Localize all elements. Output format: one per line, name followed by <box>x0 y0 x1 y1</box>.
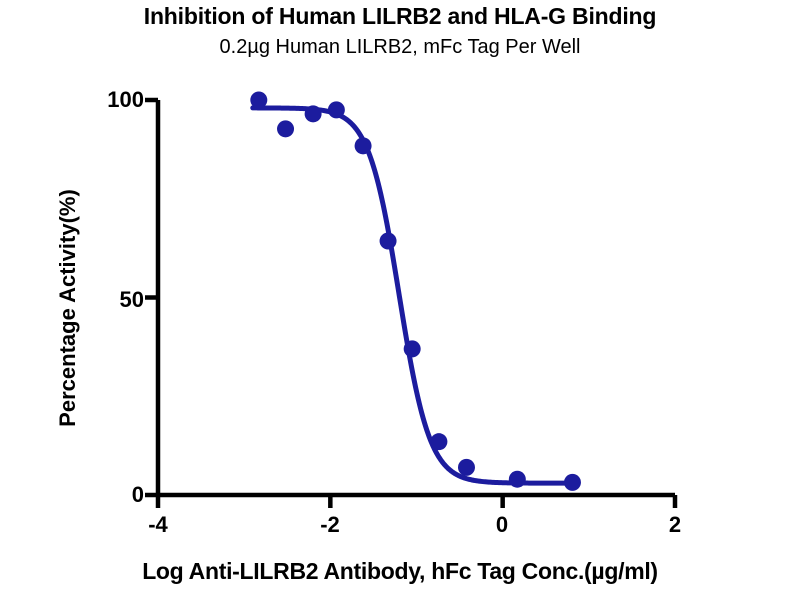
data-points <box>250 92 581 491</box>
fit-curve <box>253 108 576 483</box>
data-point <box>250 92 267 109</box>
data-point <box>277 120 294 137</box>
axes <box>145 100 675 508</box>
data-point <box>458 459 475 476</box>
data-point <box>564 474 581 491</box>
data-point <box>430 433 447 450</box>
chart-figure: Inhibition of Human LILRB2 and HLA-G Bin… <box>0 0 800 600</box>
data-point <box>380 233 397 250</box>
plot-area <box>0 0 800 600</box>
data-point <box>355 137 372 154</box>
data-point <box>328 101 345 118</box>
data-point <box>404 340 421 357</box>
data-point <box>509 471 526 488</box>
data-point <box>305 105 322 122</box>
